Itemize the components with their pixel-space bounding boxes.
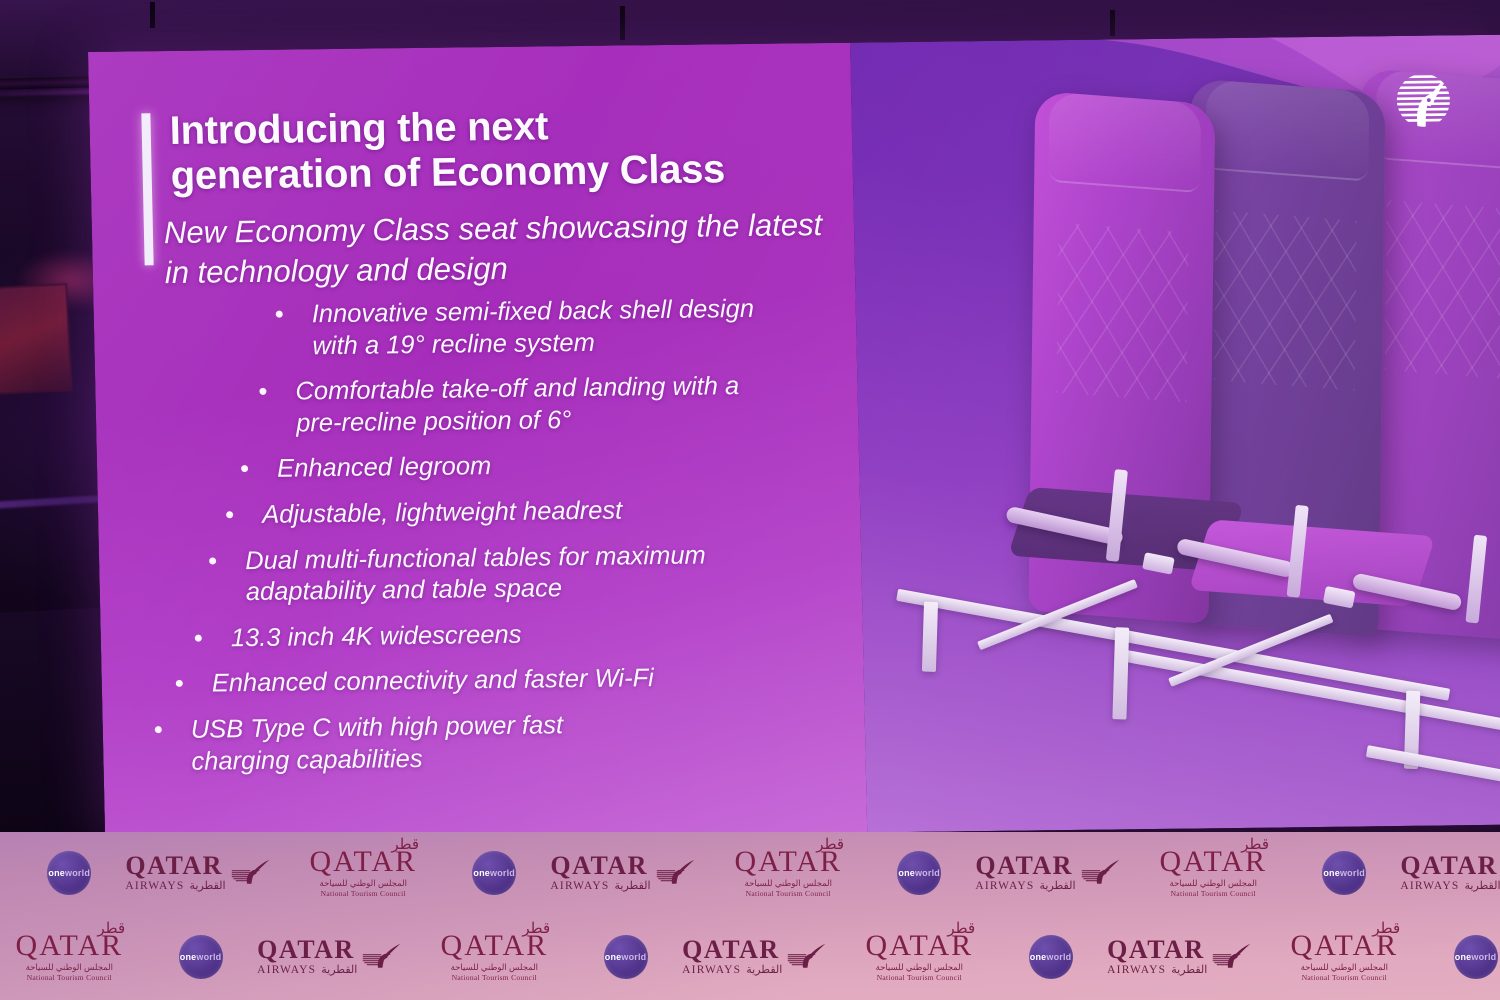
feature-bullet-list: Innovative semi-fixed back shell design … [111,293,822,793]
truss-hanger [150,2,155,28]
list-item: Enhanced connectivity and faster Wi-Fi [175,663,736,701]
oneworld-label-world: world [490,868,515,878]
qatar-airways-oryx-icon [1212,943,1252,971]
sponsor-backdrop-banner: oneworldQATARAIRWAYSالقطريةQATARقطرالمجل… [0,832,1500,1000]
ntc-arabic-mark: قطر [1372,919,1400,937]
bullet-text: Enhanced connectivity and faster Wi-Fi [175,663,736,701]
slide-subtitle: New Economy Class seat showcasing the la… [164,205,826,292]
ntc-sub-en: National Tourism Council [1171,889,1256,898]
qatar-national-tourism-council-logo: QATARقطرالمجلس الوطني للسياحةNational To… [705,848,872,898]
qatar-airways-sub-en: AIRWAYS [975,880,1034,892]
qatar-airways-logo: QATARAIRWAYSالقطرية [249,938,412,976]
oneworld-label-world: world [621,952,646,962]
ntc-arabic-mark: قطر [522,919,550,937]
truss-hanger [620,6,625,40]
page-title: Introducing the next generation of Econo… [169,101,851,199]
qatar-airways-logo: QATARAIRWAYSالقطرية [116,854,279,892]
list-item: Comfortable take-off and landing with a … [259,371,760,440]
qatar-airways-wordmark: QATAR [257,938,355,963]
oneworld-badge: oneworld [1454,935,1498,979]
quilted-stitching [1385,200,1500,381]
qatar-airways-logo: QATARAIRWAYSالقطرية [674,938,837,976]
oneworld-badge: oneworld [179,935,223,979]
bullet-text: USB Type C with high power fast charging… [154,709,655,778]
qatar-national-tourism-council-logo: QATARقطرالمجلس الوطني للسياحةNational To… [411,932,578,982]
bullet-text: 13.3 inch 4K widescreens [194,617,715,655]
qatar-airways-wordmark: QATAR [1400,854,1498,879]
sponsor-logo-row: QATARقطرالمجلس الوطني للسياحةNational To… [0,932,1500,982]
bullet-dot [226,511,233,518]
qatar-airways-sub-ar: القطرية [615,879,651,892]
oneworld-label-world: world [1471,952,1496,962]
oneworld-logo: oneworld [153,935,249,979]
list-item: 13.3 inch 4K widescreens [194,617,715,655]
bullet-text: Enhanced legroom [241,448,742,486]
ntc-sub-ar: المجلس الوطني للسياحة [451,962,538,973]
qatar-airways-oryx-icon [362,943,402,971]
qatar-airways-sub-en: AIRWAYS [125,880,184,892]
oneworld-label-one: one [1455,952,1472,962]
oneworld-label-one: one [180,952,197,962]
projected-slide: Introducing the next generation of Econo… [88,35,1500,842]
truss-hanger [1110,10,1115,36]
qatar-airways-oryx-icon [231,859,271,887]
qatar-airways-sub-ar: القطرية [1171,963,1207,976]
list-item: Adjustable, lightweight headrest [226,494,747,532]
qatar-airways-logo: QATARAIRWAYSالقطرية [541,854,704,892]
bullet-dot [276,311,283,318]
oneworld-logo: oneworld [22,851,116,895]
quilted-stitching [1057,223,1189,403]
qatar-airways-logo: QATARAIRWAYSالقطرية [1099,938,1262,976]
oneworld-label-one: one [605,952,622,962]
oneworld-logo: oneworld [578,935,674,979]
bullet-text: Comfortable take-off and landing with a … [259,371,760,440]
oneworld-logo: oneworld [1297,851,1391,895]
ntc-sub-en: National Tourism Council [1302,973,1387,982]
oneworld-label-one: one [898,868,915,878]
qatar-airways-logo: QATARAIRWAYSالقطرية [966,854,1129,892]
oneworld-label-one: one [48,868,65,878]
ntc-sub-en: National Tourism Council [321,889,406,898]
qatar-airways-wordmark: QATAR [125,854,223,879]
qatar-airways-sub-en: AIRWAYS [1400,880,1459,892]
qatar-airways-logo: QATARAIRWAYSالقطرية [1391,854,1500,892]
seat-frame-leg [1113,627,1130,719]
bullet-text: Innovative semi-fixed back shell design … [275,293,796,363]
oneworld-logo: oneworld [1428,935,1500,979]
title-line-2: generation of Economy Class [170,145,851,198]
oneworld-label-world: world [1340,868,1365,878]
bullet-dot [195,635,202,642]
presentation-photo: Introducing the next generation of Econo… [0,0,1500,1000]
qatar-airways-oryx-icon [787,943,827,971]
qatar-national-tourism-council-logo: QATARقطرالمجلس الوطني للسياحةNational To… [0,932,153,982]
list-item: Innovative semi-fixed back shell design … [275,293,796,363]
qatar-airways-sub-ar: القطرية [190,879,226,892]
oneworld-label-world: world [196,952,221,962]
qatar-airways-wordmark: QATAR [682,938,780,963]
ntc-sub-ar: المجلس الوطني للسياحة [745,878,832,889]
side-display [0,283,73,395]
oneworld-label-one: one [1323,868,1340,878]
qatar-national-tourism-council-logo: QATARقطرالمجلس الوطني للسياحةNational To… [836,932,1003,982]
qatar-airways-sub-ar: القطرية [746,963,782,976]
qatar-national-tourism-council-logo: QATARقطرالمجلس الوطني للسياحةNational To… [1261,932,1428,982]
qatar-airways-sub-en: AIRWAYS [1107,964,1166,976]
headrest [1049,92,1201,193]
ntc-sub-ar: المجلس الوطني للسياحة [320,878,407,889]
oneworld-label-one: one [1030,952,1047,962]
qatar-airways-sub-en: AIRWAYS [550,880,609,892]
quilted-stitching [1214,210,1357,390]
list-item: USB Type C with high power fast charging… [154,709,655,778]
bullet-text: Adjustable, lightweight headrest [226,494,747,532]
ntc-arabic-mark: قطر [391,835,419,853]
ntc-sub-ar: المجلس الوطني للسياحة [1301,962,1388,973]
ntc-arabic-mark: قطر [1241,835,1269,853]
qatar-airways-sub-ar: القطرية [1464,879,1500,892]
seat-frame-foot [1366,745,1500,782]
ntc-sub-en: National Tourism Council [746,889,831,898]
headrest [1205,79,1370,181]
ntc-sub-ar: المجلس الوطني للسياحة [26,962,113,973]
qatar-airways-oryx-icon [1383,59,1463,138]
seat-frame-leg [922,601,938,671]
bullet-dot [209,557,216,564]
oneworld-badge: oneworld [1322,851,1366,895]
ntc-sub-en: National Tourism Council [27,973,112,982]
oneworld-logo: oneworld [447,851,541,895]
oneworld-label-world: world [1046,952,1071,962]
sponsor-logo-row: oneworldQATARAIRWAYSالقطريةQATARقطرالمجل… [22,848,1500,898]
ntc-sub-ar: المجلس الوطني للسياحة [1170,878,1257,889]
oneworld-badge: oneworld [472,851,516,895]
oneworld-badge: oneworld [604,935,648,979]
ntc-arabic-mark: قطر [97,919,125,937]
qatar-airways-sub-ar: القطرية [321,963,357,976]
list-item: Enhanced legroom [241,448,742,486]
qatar-airways-sub-ar: القطرية [1040,879,1076,892]
qatar-airways-sub-en: AIRWAYS [682,964,741,976]
qatar-airways-wordmark: QATAR [550,854,648,879]
oneworld-badge: oneworld [1029,935,1073,979]
oneworld-label-world: world [915,868,940,878]
economy-seats-photo [850,35,1500,833]
ntc-arabic-mark: قطر [816,835,844,853]
qatar-airways-wordmark: QATAR [975,854,1073,879]
oneworld-badge: oneworld [47,851,91,895]
oneworld-badge: oneworld [897,851,941,895]
bullet-text: Dual multi-functional tables for maximum… [209,540,740,610]
ntc-arabic-mark: قطر [947,919,975,937]
ntc-sub-en: National Tourism Council [452,973,537,982]
qatar-national-tourism-council-logo: QATARقطرالمجلس الوطني للسياحةNational To… [1130,848,1297,898]
qatar-airways-oryx-icon [1081,859,1121,887]
list-item: Dual multi-functional tables for maximum… [209,540,740,610]
qatar-airways-wordmark: QATAR [1107,938,1205,963]
qatar-airways-oryx-icon [656,859,696,887]
ntc-sub-en: National Tourism Council [877,973,962,982]
ntc-sub-ar: المجلس الوطني للسياحة [876,962,963,973]
oneworld-label-world: world [65,868,90,878]
qatar-airways-sub-en: AIRWAYS [257,964,316,976]
oneworld-logo: oneworld [872,851,966,895]
qatar-national-tourism-council-logo: QATARقطرالمجلس الوطني للسياحةNational To… [280,848,447,898]
oneworld-label-one: one [473,868,490,878]
oneworld-logo: oneworld [1003,935,1099,979]
